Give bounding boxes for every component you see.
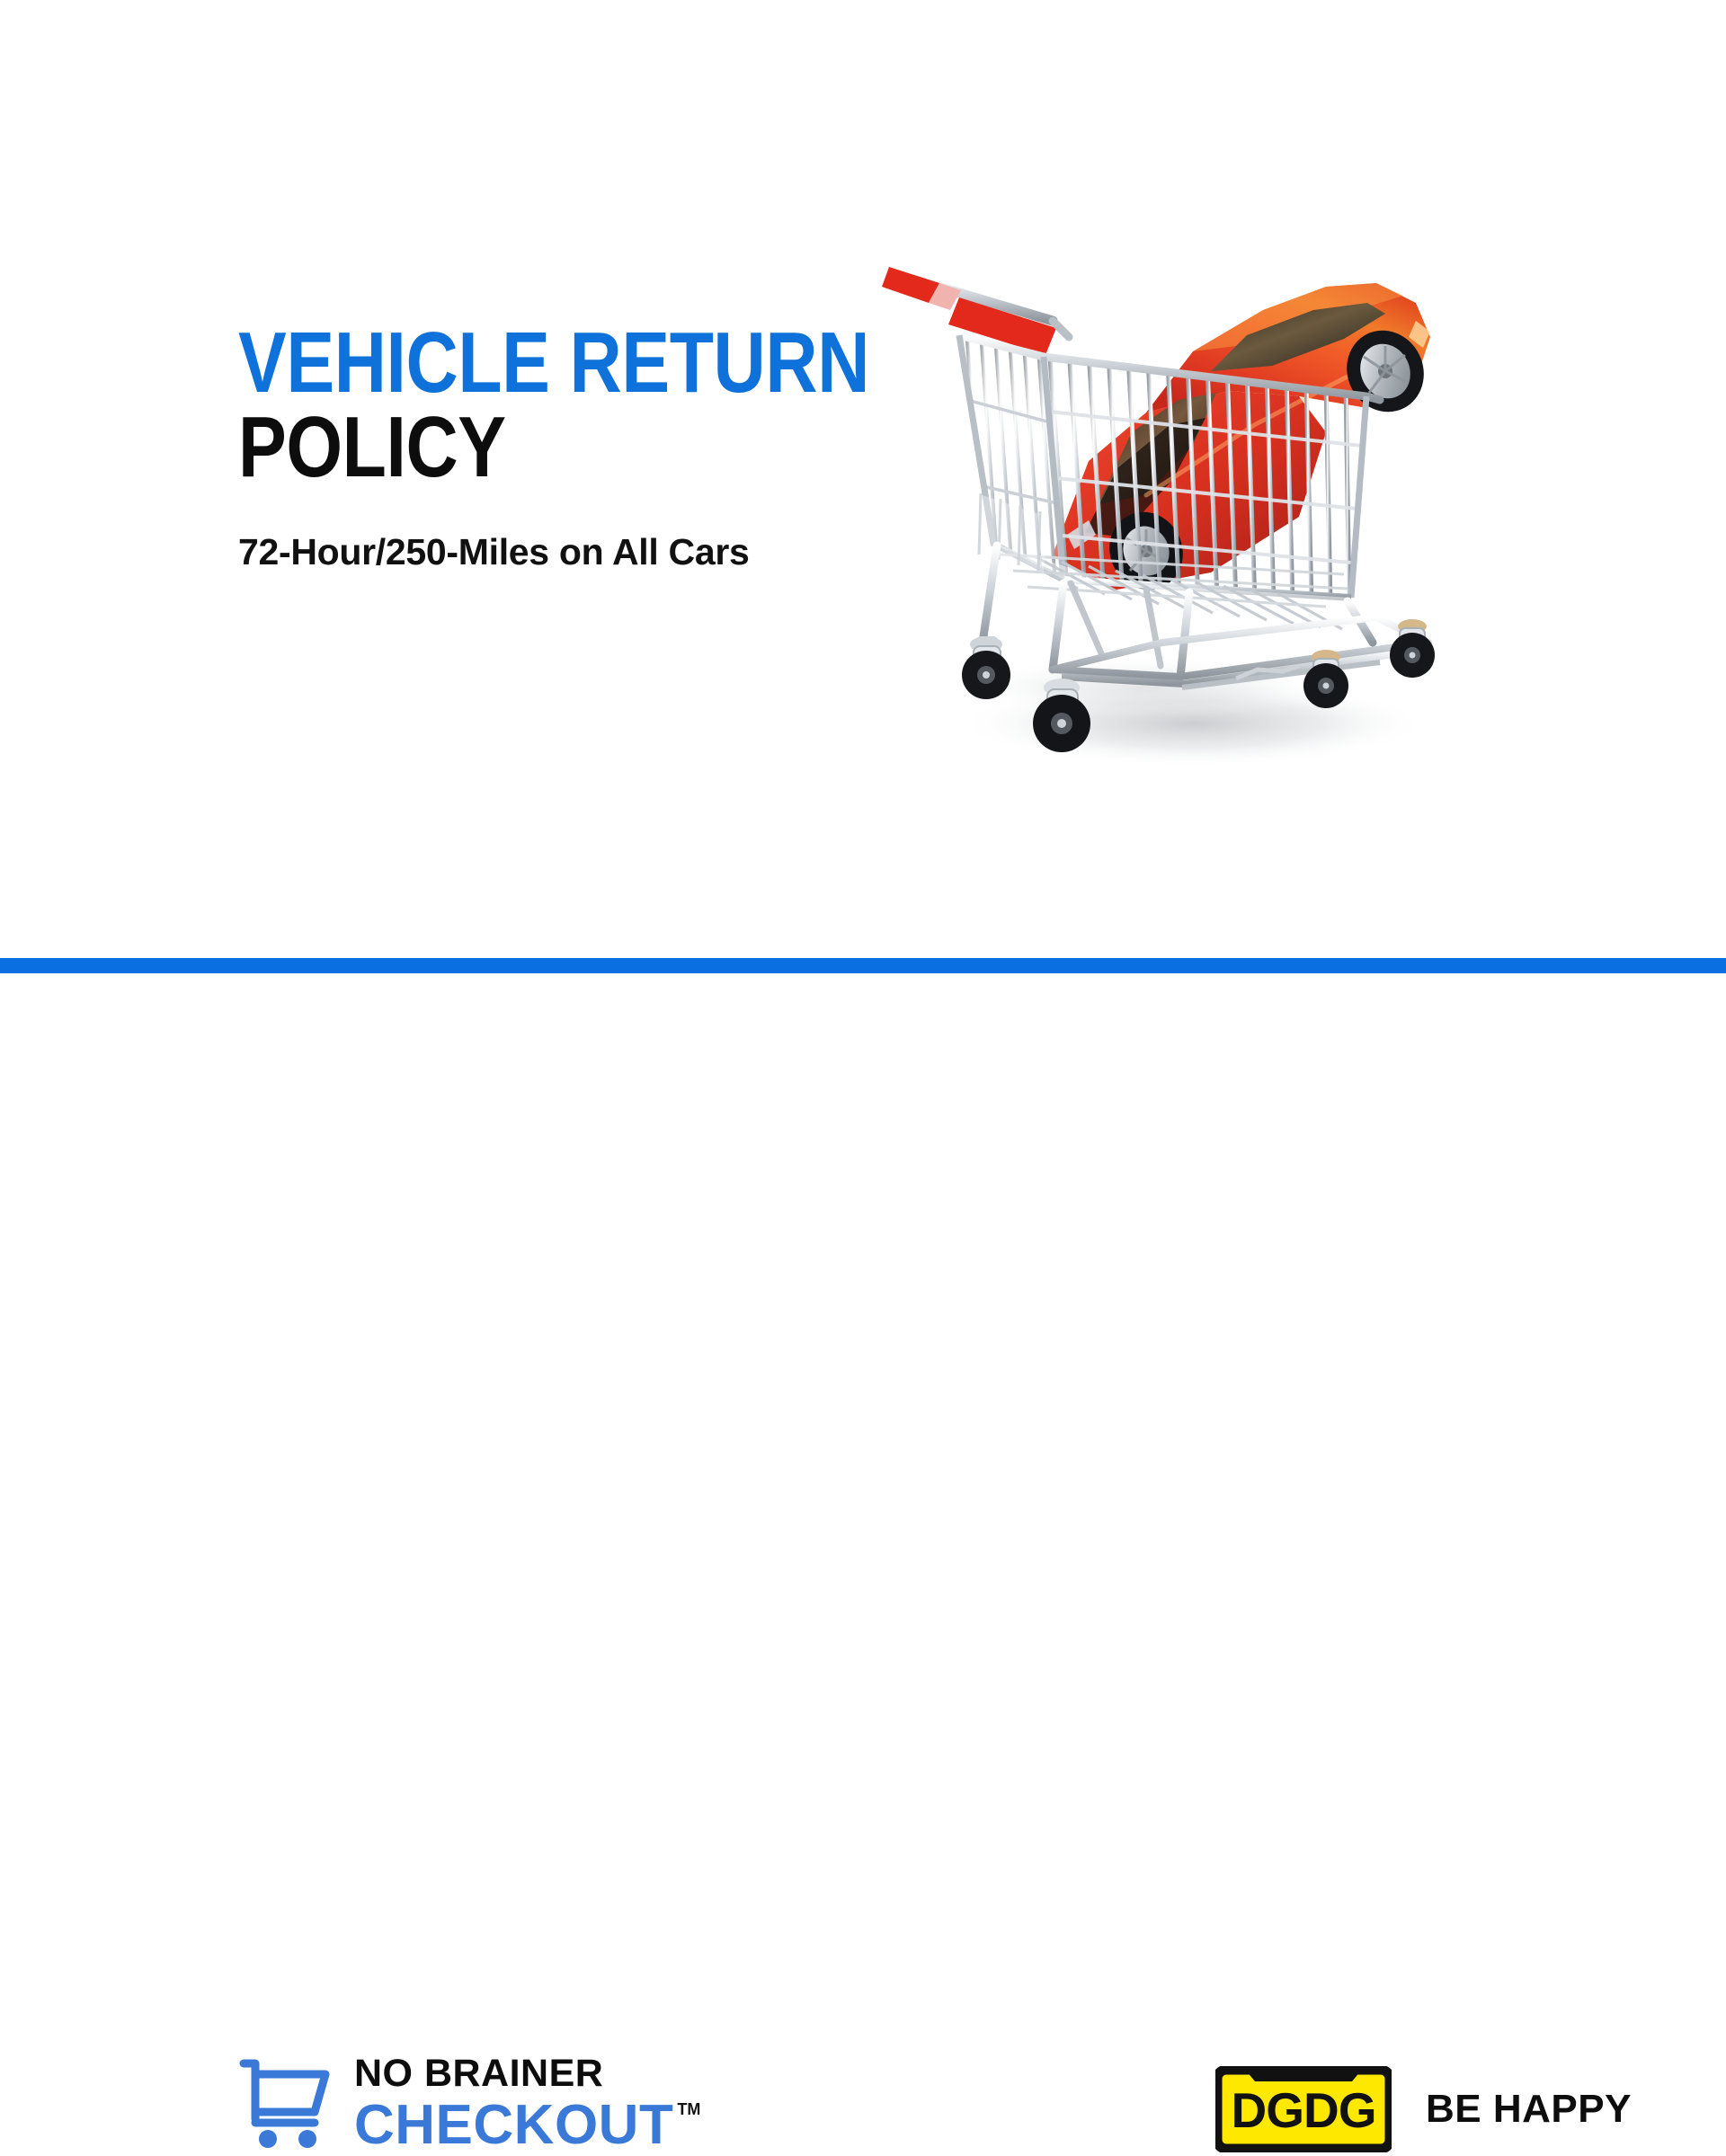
- headline-block: VEHICLE RETURN POLICY 72-Hour/250-Miles …: [238, 324, 867, 573]
- headline-line-2: POLICY: [238, 408, 767, 487]
- headline-line-1: VEHICLE RETURN: [238, 324, 767, 403]
- subheadline: 72-Hour/250-Miles on All Cars: [238, 531, 867, 573]
- no-brainer-checkout-wordmark: NO BRAINER CHECKOUT TM: [354, 2054, 700, 2152]
- shopping-cart-icon: [236, 2056, 333, 2150]
- dgdg-badge-text: DGDG: [1232, 2082, 1376, 2138]
- trademark-symbol: TM: [677, 2101, 700, 2117]
- blue-divider-bar: [0, 958, 1726, 973]
- logo-line-checkout: CHECKOUT: [354, 2099, 673, 2152]
- dgdg-tagline: BE HAPPY: [1426, 2089, 1632, 2129]
- dgdg-badge: DGDG: [1215, 2066, 1392, 2152]
- slide-canvas: VEHICLE RETURN POLICY 72-Hour/250-Miles …: [0, 0, 1726, 1294]
- dgdg-lockup[interactable]: DGDG BE HAPPY: [1215, 2066, 1632, 2152]
- hero-section: VEHICLE RETURN POLICY 72-Hour/250-Miles …: [0, 0, 1726, 958]
- logo-line-no-brainer: NO BRAINER: [354, 2054, 700, 2093]
- car-in-cart-photo: [876, 220, 1506, 782]
- no-brainer-checkout-logo[interactable]: NO BRAINER CHECKOUT TM: [236, 2054, 700, 2152]
- footer-section: NO BRAINER CHECKOUT TM DGDG BE HAPPY: [0, 973, 1726, 1294]
